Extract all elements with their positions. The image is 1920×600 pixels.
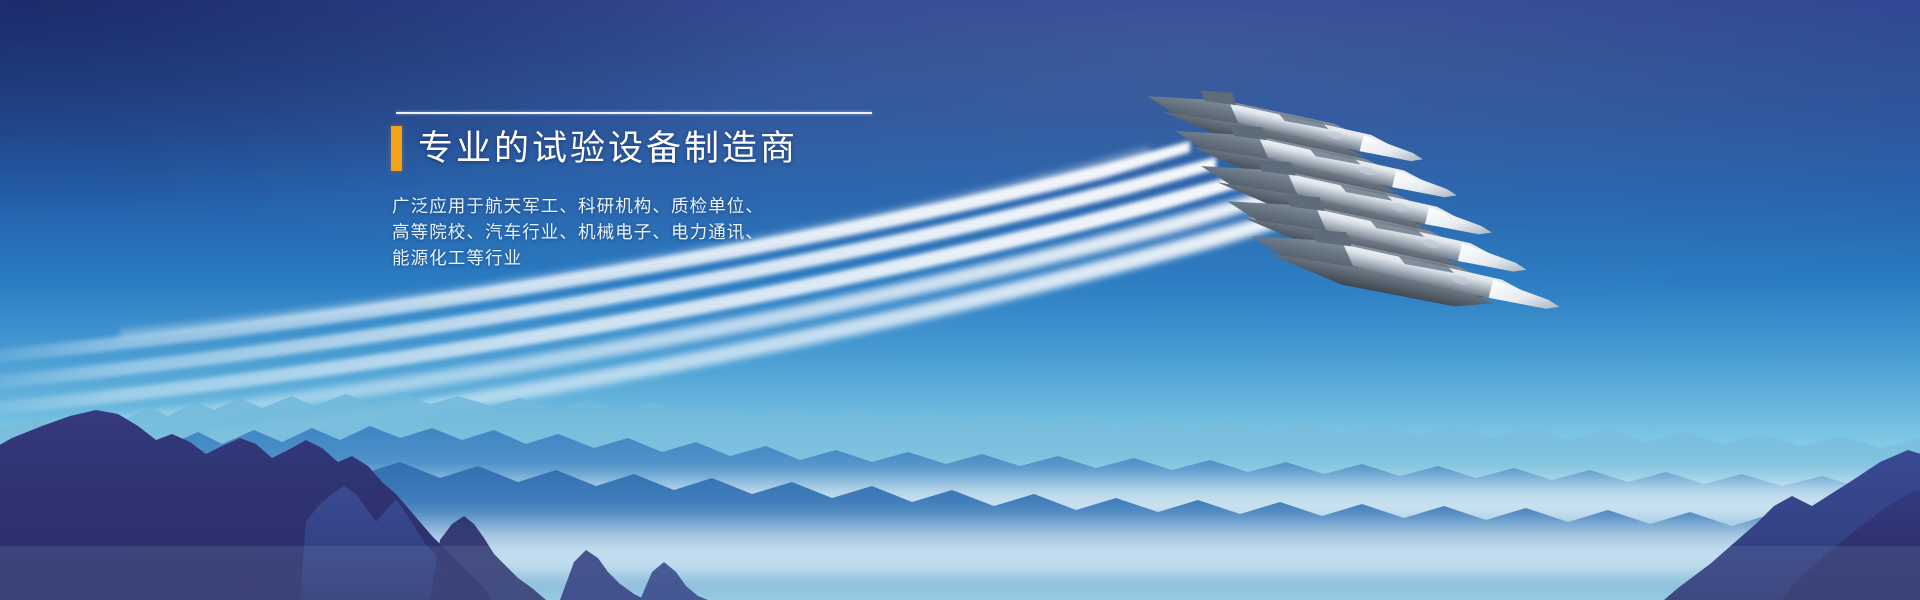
page-title: 专业的试验设备制造商	[418, 131, 798, 166]
mountain-range-group	[0, 310, 1920, 600]
hero-banner: 专业的试验设备制造商 广泛应用于航天军工、科研机构、质检单位、 高等院校、汽车行…	[0, 0, 1920, 600]
headline-rule	[396, 112, 872, 114]
horizon-haze	[0, 546, 1920, 600]
headline-block: 专业的试验设备制造商 广泛应用于航天军工、科研机构、质检单位、 高等院校、汽车行…	[391, 112, 1011, 271]
accent-bar	[391, 126, 402, 171]
headline-row: 专业的试验设备制造商	[391, 126, 1011, 171]
subtitle-line-2: 高等院校、汽车行业、机械电子、电力通讯、	[392, 219, 1011, 245]
subtitle-block: 广泛应用于航天军工、科研机构、质检单位、 高等院校、汽车行业、机械电子、电力通讯…	[392, 193, 1011, 271]
subtitle-line-3: 能源化工等行业	[392, 245, 1011, 271]
subtitle-line-1: 广泛应用于航天军工、科研机构、质检单位、	[392, 193, 1011, 219]
